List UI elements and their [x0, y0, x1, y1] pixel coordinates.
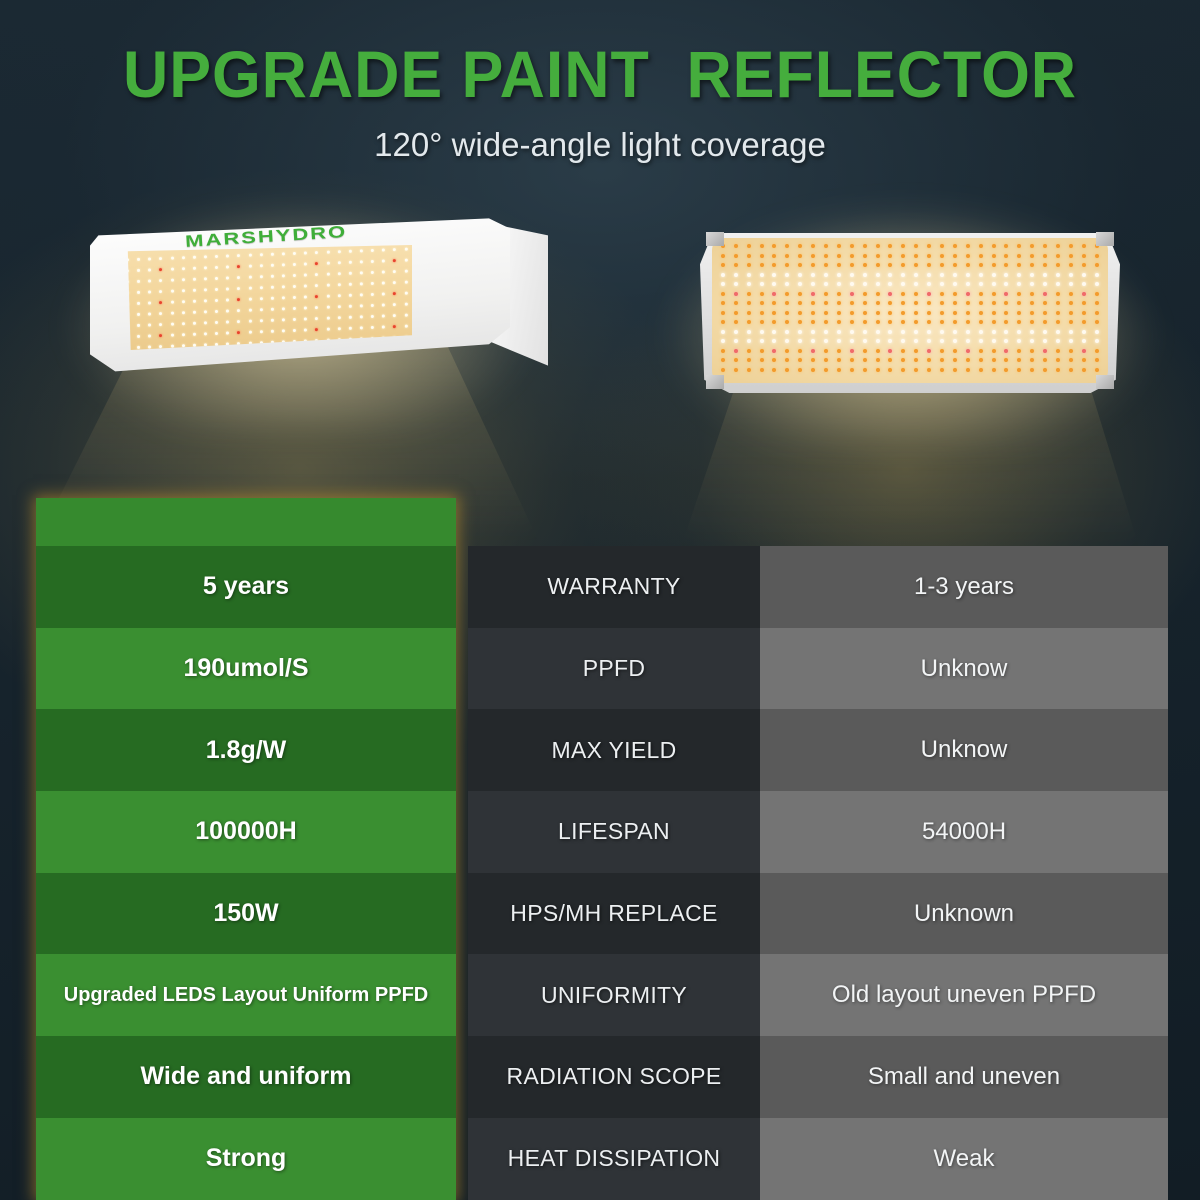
led-dot [979, 330, 983, 334]
led-dot [226, 265, 229, 268]
led-dot [901, 330, 905, 334]
led-dot [1043, 263, 1047, 267]
led-dot [393, 314, 396, 317]
led-dot [1082, 244, 1086, 248]
led-dot [979, 339, 983, 343]
led-dot [315, 284, 318, 287]
led-dot [226, 320, 229, 323]
led-dot [824, 301, 828, 305]
led-dot [940, 263, 944, 267]
led-dot [772, 349, 776, 353]
led-dot [837, 358, 841, 362]
led-dot-row [712, 292, 1108, 300]
led-dot [721, 263, 725, 267]
led-dot [927, 263, 931, 267]
led-dot [1095, 339, 1099, 343]
led-dot [393, 303, 396, 306]
led-dot [249, 276, 252, 279]
led-dot [1056, 273, 1060, 277]
led-dot [798, 282, 802, 286]
led-dot [837, 368, 841, 372]
led-dot [382, 248, 385, 251]
led-dot [824, 244, 828, 248]
led-dot [349, 316, 352, 319]
led-dot [863, 349, 867, 353]
led-dot [182, 300, 185, 303]
lamp-left-led-board [122, 245, 412, 350]
led-dot [979, 368, 983, 372]
led-dot [850, 301, 854, 305]
led-dot [1069, 311, 1073, 315]
led-dot [315, 317, 318, 320]
led-dot [901, 349, 905, 353]
led-dot [1095, 349, 1099, 353]
led-dot [1069, 358, 1073, 362]
led-dot [888, 244, 892, 248]
led-dot-row [712, 330, 1108, 338]
led-dot [721, 292, 725, 296]
led-dot [850, 254, 854, 258]
led-dot [1017, 349, 1021, 353]
led-dot-row [712, 349, 1108, 357]
led-dot [148, 323, 151, 326]
led-dot [315, 262, 318, 265]
led-dot [304, 251, 307, 254]
led-dot [1056, 282, 1060, 286]
led-dot [927, 330, 931, 334]
led-dot [204, 321, 207, 324]
led-dot [1017, 368, 1021, 372]
led-dot [940, 349, 944, 353]
led-dot [979, 320, 983, 324]
led-dot [721, 282, 725, 286]
led-dot [1004, 368, 1008, 372]
led-dot [271, 275, 274, 278]
table-cell-our-value: Wide and uniform [36, 1036, 456, 1118]
led-dot [888, 311, 892, 315]
led-dot [404, 303, 407, 306]
led-dot [953, 368, 957, 372]
column-other-product: 1-3 yearsUnknowUnknow54000HUnknownOld la… [760, 546, 1168, 1200]
column-feature-names: WARRANTYPPFDMAX YIELDLIFESPANHPS/MH REPL… [468, 546, 760, 1200]
led-dot-row [712, 339, 1108, 347]
led-dot [953, 330, 957, 334]
led-dot [927, 301, 931, 305]
led-dot [953, 263, 957, 267]
led-dot [260, 264, 263, 267]
led-dot [1069, 368, 1073, 372]
led-dot [940, 282, 944, 286]
led-dot [850, 358, 854, 362]
led-dot [992, 292, 996, 296]
led-dot [966, 301, 970, 305]
led-dot [360, 271, 363, 274]
led-dot [966, 368, 970, 372]
led-dot [371, 315, 374, 318]
led-dot [992, 358, 996, 362]
table-cell-other-value: Unknow [760, 628, 1168, 710]
led-dot [850, 282, 854, 286]
led-dot [953, 244, 957, 248]
led-dot [1095, 311, 1099, 315]
led-dot [798, 358, 802, 362]
led-dot-row [712, 301, 1108, 309]
led-dot [927, 358, 931, 362]
led-dot [137, 335, 140, 338]
led-dot [927, 368, 931, 372]
led-dot [1017, 263, 1021, 267]
led-dot [338, 294, 341, 297]
led-dot [734, 339, 738, 343]
led-dot [953, 349, 957, 353]
led-dot [953, 320, 957, 324]
led-dot [315, 328, 318, 331]
led-dot [215, 266, 218, 269]
led-dot [772, 330, 776, 334]
led-dot [837, 292, 841, 296]
led-dot [1030, 349, 1034, 353]
led-dot [772, 358, 776, 362]
led-dot [901, 301, 905, 305]
led-dot [901, 282, 905, 286]
led-dot [760, 368, 764, 372]
led-dot [992, 263, 996, 267]
led-dot [966, 273, 970, 277]
led-dot [1069, 273, 1073, 277]
led-dot [393, 248, 396, 251]
led-dot [837, 282, 841, 286]
led-dot [734, 254, 738, 258]
led-dot [1030, 263, 1034, 267]
led-dot [734, 330, 738, 334]
led-dot [382, 259, 385, 262]
led-dot [293, 285, 296, 288]
led-dot [371, 293, 374, 296]
table-cell-other-value: Unknow [760, 709, 1168, 791]
led-dot [747, 263, 751, 267]
led-dot [1043, 273, 1047, 277]
led-dot [811, 330, 815, 334]
led-dot [798, 301, 802, 305]
led-dot-row [712, 368, 1108, 376]
led-dot [1004, 292, 1008, 296]
led-dot [876, 254, 880, 258]
led-dot [393, 270, 396, 273]
led-dot [785, 282, 789, 286]
led-dot [204, 343, 207, 346]
led-dot [940, 301, 944, 305]
led-dot [171, 268, 174, 271]
led-dot [966, 244, 970, 248]
led-dot [785, 368, 789, 372]
led-dot [837, 311, 841, 315]
led-dot [1095, 254, 1099, 258]
led-dot [979, 349, 983, 353]
led-dot [837, 301, 841, 305]
led-dot [824, 320, 828, 324]
led-dot [888, 339, 892, 343]
led-dot [992, 254, 996, 258]
led-dot [393, 292, 396, 295]
led-dot [204, 299, 207, 302]
led-dot [260, 253, 263, 256]
table-cell-feature-name: LIFESPAN [468, 791, 760, 873]
led-dot [1043, 292, 1047, 296]
led-dot [404, 314, 407, 317]
led-dot [863, 320, 867, 324]
led-dot [271, 264, 274, 267]
led-dot [1030, 282, 1034, 286]
led-dot [824, 282, 828, 286]
led-dot [326, 328, 329, 331]
led-dot [382, 270, 385, 273]
led-dot [966, 358, 970, 362]
led-dot [876, 263, 880, 267]
led-dot [747, 349, 751, 353]
led-dot [271, 330, 274, 333]
led-dot [966, 263, 970, 267]
table-cell-feature-name: HPS/MH REPLACE [468, 873, 760, 955]
led-dot [798, 339, 802, 343]
led-dot [326, 295, 329, 298]
led-dot [226, 331, 229, 334]
led-dot [215, 299, 218, 302]
led-dot [1004, 339, 1008, 343]
led-dot [204, 310, 207, 313]
led-dot [193, 344, 196, 347]
led-dot [171, 301, 174, 304]
led-dot [1030, 368, 1034, 372]
led-dot [824, 263, 828, 267]
led-dot [249, 331, 252, 334]
led-dot [1069, 339, 1073, 343]
led-dot [271, 286, 274, 289]
led-dot [226, 254, 229, 257]
led-dot [734, 320, 738, 324]
led-dot [901, 254, 905, 258]
led-dot [966, 282, 970, 286]
led-dot [1056, 301, 1060, 305]
led-dot [260, 308, 263, 311]
led-dot [850, 263, 854, 267]
led-dot [966, 330, 970, 334]
led-dot [1095, 282, 1099, 286]
led-dot [371, 271, 374, 274]
led-dot [237, 287, 240, 290]
led-dot [1069, 282, 1073, 286]
led-dot [824, 292, 828, 296]
led-dot [1056, 244, 1060, 248]
led-dot [1043, 339, 1047, 343]
led-dot [159, 257, 162, 260]
led-dot [876, 330, 880, 334]
led-dot [249, 254, 252, 257]
led-dot [193, 333, 196, 336]
led-dot-row [712, 282, 1108, 290]
led-dot [371, 282, 374, 285]
product-image-upgraded-lamp: MARSHYDRO [90, 215, 510, 400]
led-dot [1030, 254, 1034, 258]
led-dot [992, 349, 996, 353]
led-dot [992, 368, 996, 372]
led-dot [349, 250, 352, 253]
led-dot [171, 323, 174, 326]
led-dot [953, 282, 957, 286]
led-dot [304, 295, 307, 298]
led-dot [837, 330, 841, 334]
led-dot [1043, 301, 1047, 305]
led-dot [901, 358, 905, 362]
led-dot [193, 278, 196, 281]
led-dot [271, 308, 274, 311]
led-dot [876, 320, 880, 324]
comparison-table: 5 years190umol/S1.8g/W100000H150WUpgrade… [0, 498, 1200, 1200]
led-dot [204, 332, 207, 335]
led-dot [326, 273, 329, 276]
led-dot [237, 331, 240, 334]
led-dot [927, 311, 931, 315]
led-dot [1017, 320, 1021, 324]
led-dot [824, 349, 828, 353]
led-dot [811, 311, 815, 315]
led-dot [360, 293, 363, 296]
led-dot [349, 305, 352, 308]
table-cell-feature-name: PPFD [468, 628, 760, 710]
led-dot [1004, 330, 1008, 334]
led-dot [914, 349, 918, 353]
led-dot [171, 334, 174, 337]
led-dot [979, 292, 983, 296]
led-dot [215, 321, 218, 324]
led-dot [404, 325, 407, 328]
led-dot [798, 320, 802, 324]
led-dot [204, 288, 207, 291]
led-dot [226, 276, 229, 279]
led-dot [326, 284, 329, 287]
led-dot [293, 296, 296, 299]
led-dot [137, 324, 140, 327]
led-dot [850, 244, 854, 248]
table-cell-other-value: 54000H [760, 791, 1168, 873]
led-dot [734, 292, 738, 296]
led-dot [159, 290, 162, 293]
led-dot [888, 273, 892, 277]
led-dot [293, 263, 296, 266]
led-dot [1030, 339, 1034, 343]
led-dot [293, 329, 296, 332]
led-dot [760, 254, 764, 258]
table-cell-our-value: Strong [36, 1118, 456, 1200]
led-dot [360, 304, 363, 307]
led-dot [811, 320, 815, 324]
led-dot [1069, 244, 1073, 248]
led-dot [1004, 349, 1008, 353]
led-dot [824, 330, 828, 334]
led-dot [811, 349, 815, 353]
led-dot [876, 301, 880, 305]
led-dot-row [712, 311, 1108, 319]
led-dot [1030, 273, 1034, 277]
led-dot [215, 288, 218, 291]
table-cell-other-value: Small and uneven [760, 1036, 1168, 1118]
led-dot [734, 311, 738, 315]
led-dot [159, 323, 162, 326]
led-dot [1095, 358, 1099, 362]
led-dot [760, 358, 764, 362]
led-dot [1004, 263, 1008, 267]
led-dot [721, 358, 725, 362]
led-dot [992, 330, 996, 334]
led-dot [824, 273, 828, 277]
led-dot [360, 282, 363, 285]
led-dot [811, 263, 815, 267]
led-dot [226, 298, 229, 301]
led-dot [159, 345, 162, 348]
led-dot [772, 263, 776, 267]
led-dot [171, 312, 174, 315]
led-dot [811, 339, 815, 343]
led-dot [326, 306, 329, 309]
led-dot [1069, 330, 1073, 334]
led-dot [850, 320, 854, 324]
led-dot [785, 301, 789, 305]
led-dot [721, 254, 725, 258]
housing-corner-bracket [1096, 375, 1114, 389]
led-dot [182, 289, 185, 292]
led-dot [734, 301, 738, 305]
led-dot [888, 292, 892, 296]
led-dot [914, 320, 918, 324]
led-dot [811, 273, 815, 277]
led-dot [1004, 282, 1008, 286]
led-dot [992, 244, 996, 248]
led-dot [876, 339, 880, 343]
table-cell-other-value: Old layout uneven PPFD [760, 954, 1168, 1036]
led-dot [927, 339, 931, 343]
led-dot [382, 292, 385, 295]
led-dot [1030, 330, 1034, 334]
led-dot [979, 244, 983, 248]
led-dot [338, 283, 341, 286]
led-dot [349, 294, 352, 297]
led-dot [927, 292, 931, 296]
led-dot [760, 349, 764, 353]
led-dot [338, 316, 341, 319]
led-dot [1017, 311, 1021, 315]
table-cell-feature-name: WARRANTY [468, 546, 760, 628]
led-dot [876, 311, 880, 315]
led-dot [888, 320, 892, 324]
header: UPGRADE PAINT REFLECTOR 120° wide-angle … [0, 0, 1200, 164]
led-dot [1082, 273, 1086, 277]
led-dot [237, 276, 240, 279]
led-dot [901, 244, 905, 248]
led-dot [1082, 320, 1086, 324]
led-dot [837, 339, 841, 343]
led-dot [315, 306, 318, 309]
page-title: UPGRADE PAINT REFLECTOR [30, 36, 1170, 112]
table-cell-other-value: Unknown [760, 873, 1168, 955]
led-dot [1082, 368, 1086, 372]
led-dot [785, 263, 789, 267]
led-dot [901, 339, 905, 343]
led-dot [760, 263, 764, 267]
led-dot [721, 301, 725, 305]
led-dot [811, 368, 815, 372]
led-dot [734, 368, 738, 372]
led-dot [721, 320, 725, 324]
led-dot [850, 330, 854, 334]
